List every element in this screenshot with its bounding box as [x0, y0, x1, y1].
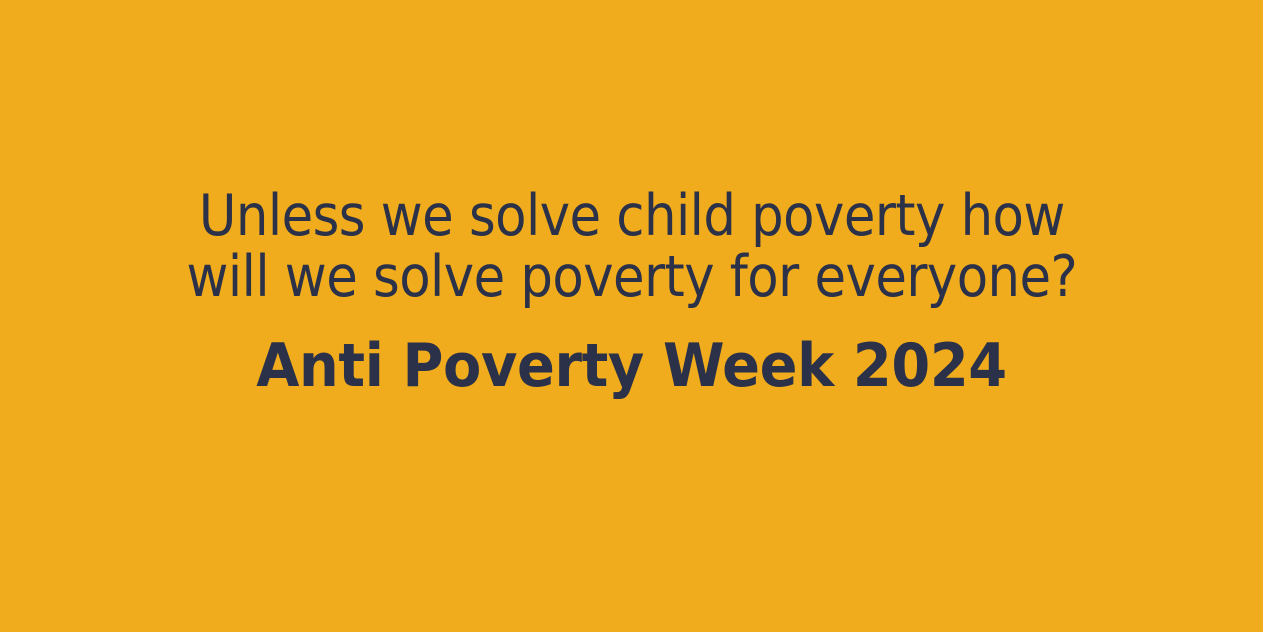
- campaign-banner: Unless we solve child poverty how will w…: [0, 0, 1263, 632]
- banner-headline: Unless we solve child poverty how will w…: [186, 186, 1077, 308]
- banner-subtitle: Anti Poverty Week 2024: [256, 333, 1006, 399]
- banner-message-block: Unless we solve child poverty how will w…: [0, 186, 1263, 399]
